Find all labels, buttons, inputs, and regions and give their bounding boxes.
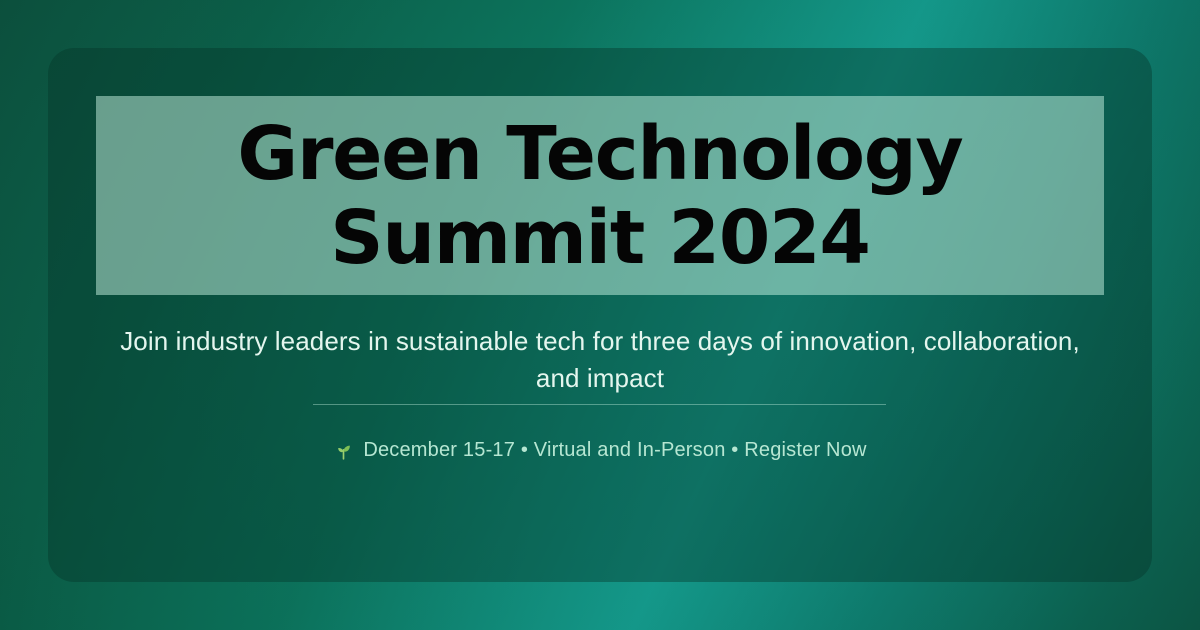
event-meta-line: December 15-17 • Virtual and In-Person •… <box>96 434 1104 466</box>
banner-subtitle: Join industry leaders in sustainable tec… <box>96 323 1104 397</box>
page-title: Green Technology Summit 2024 <box>223 112 976 280</box>
banner-card: Green Technology Summit 2024 Join indust… <box>48 48 1152 582</box>
section-divider <box>313 404 886 405</box>
event-banner: Green Technology Summit 2024 Join indust… <box>0 0 1200 630</box>
event-meta-text: December 15-17 • Virtual and In-Person •… <box>363 434 866 466</box>
seedling-icon <box>333 440 354 461</box>
title-highlight-band: Green Technology Summit 2024 <box>96 96 1104 295</box>
